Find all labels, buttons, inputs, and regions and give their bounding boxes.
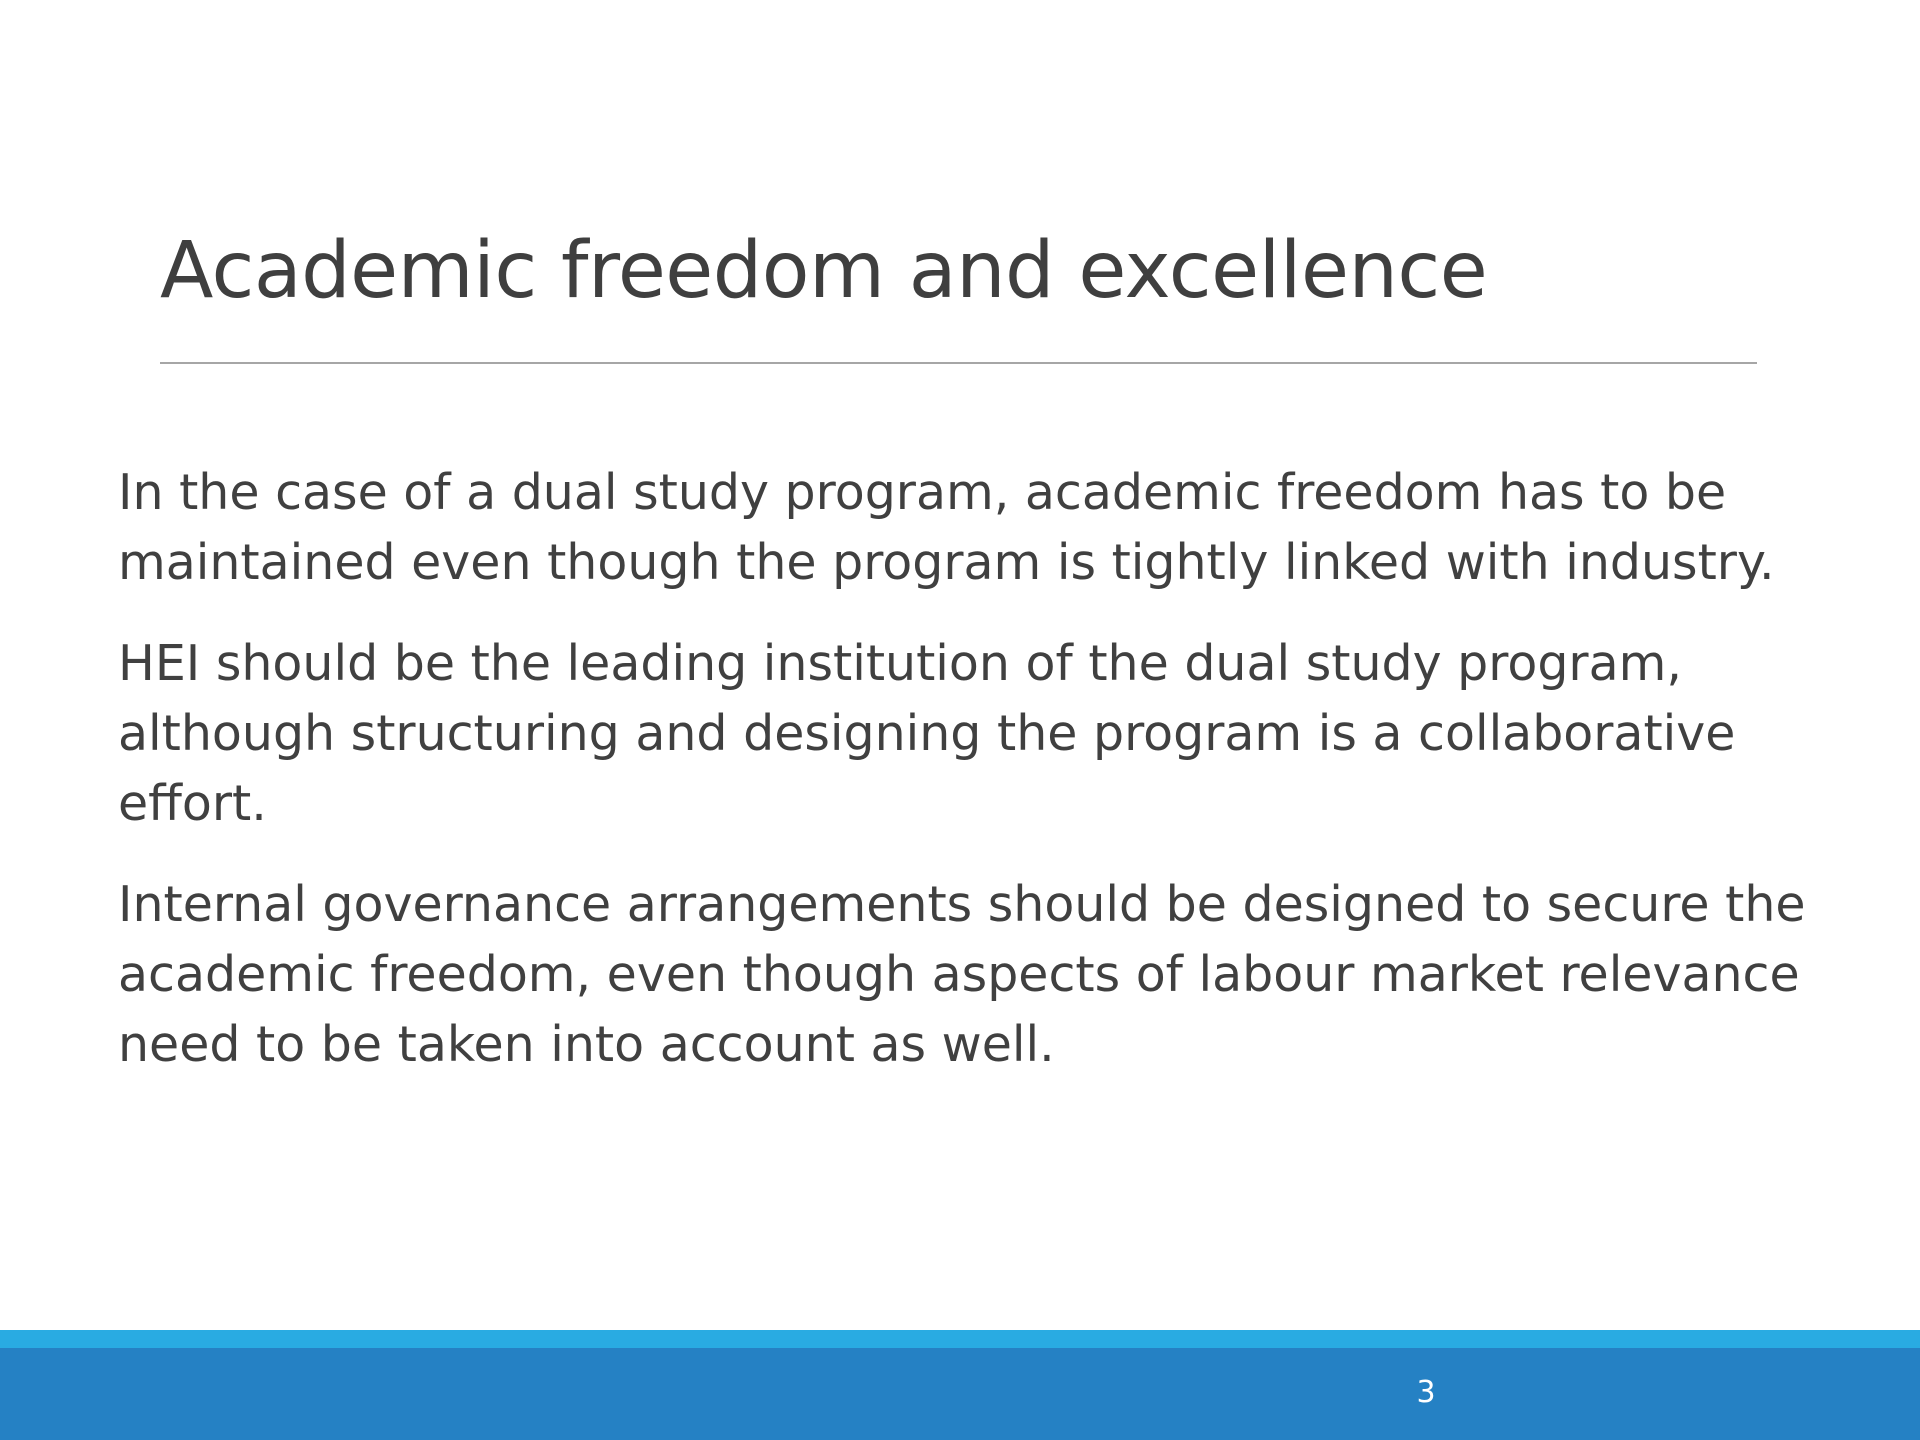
body-paragraph-3: Internal governance arrangements should … [118, 870, 1818, 1080]
body-paragraph-1: In the case of a dual study program, aca… [118, 458, 1818, 598]
slide-canvas: Academic freedom and excellence In the c… [0, 0, 1920, 1440]
footer-band [0, 1348, 1920, 1440]
title-underline-rule [160, 362, 1757, 364]
body-paragraph-2: HEI should be the leading institution of… [118, 629, 1818, 839]
page-number: 3 [1404, 1378, 1448, 1408]
body-content: In the case of a dual study program, aca… [118, 458, 1818, 1080]
slide-footer [0, 1330, 1920, 1440]
page-title: Academic freedom and excellence [160, 232, 1760, 310]
title-block: Academic freedom and excellence [160, 232, 1760, 310]
footer-accent-stripe [0, 1330, 1920, 1348]
